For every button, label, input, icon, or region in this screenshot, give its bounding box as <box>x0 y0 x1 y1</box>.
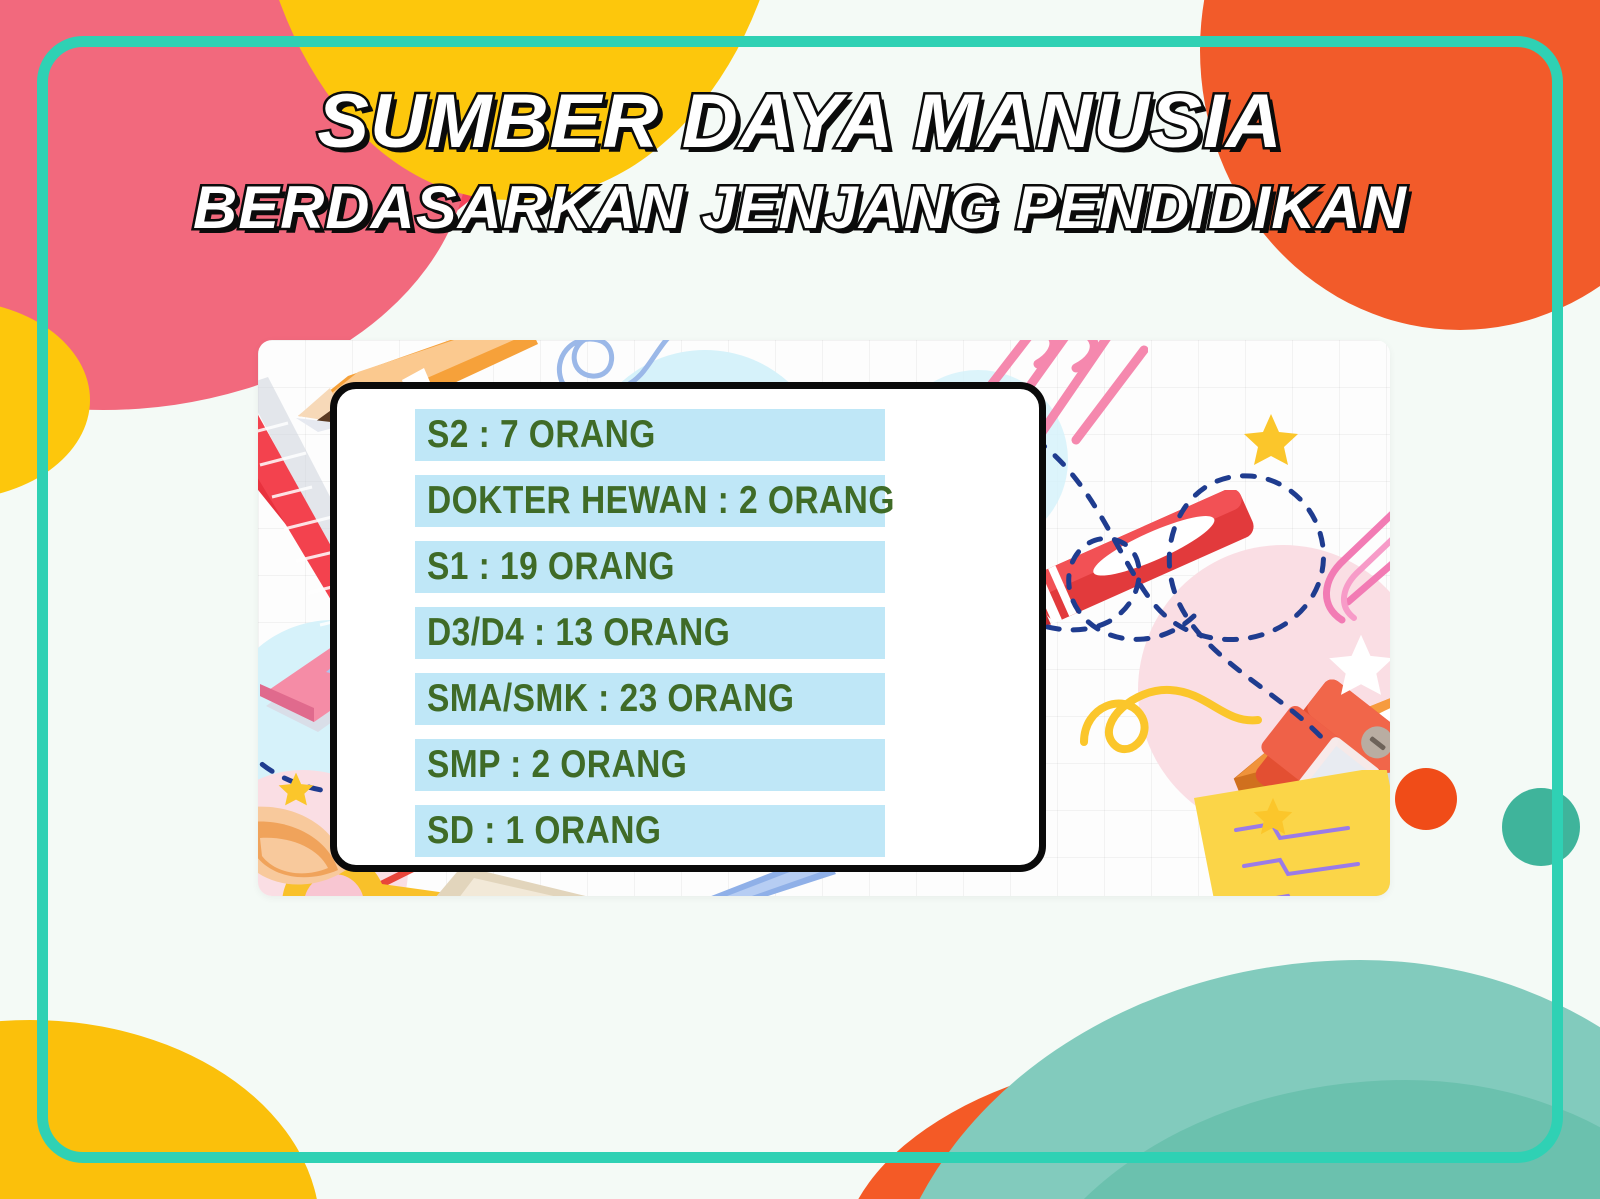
list-item-label: SMP : 2 ORANG <box>427 739 687 791</box>
star-yellow-left-icon <box>278 770 314 806</box>
list-item-label: DOKTER HEWAN : 2 ORANG <box>427 475 895 527</box>
list-item-pill: DOKTER HEWAN : 2 ORANG <box>415 475 885 527</box>
list-item: SD : 1 ORANG <box>415 801 975 860</box>
list-item: S1 : 19 ORANG <box>415 537 975 596</box>
list-item-label: S2 : 7 ORANG <box>427 409 656 461</box>
list-item: SMP : 2 ORANG <box>415 735 975 794</box>
stats-card: S2 : 7 ORANG DOKTER HEWAN : 2 ORANG S1 :… <box>330 382 1046 872</box>
page-title: SUMBER DAYA MANUSIA BERDASARKAN JENJANG … <box>0 84 1600 238</box>
list-item-pill: D3/D4 : 13 ORANG <box>415 607 885 659</box>
list-item-pill: SMA/SMK : 23 ORANG <box>415 673 885 725</box>
star-yellow-icon <box>1243 410 1299 466</box>
poster-canvas: SUMBER DAYA MANUSIA BERDASARKAN JENJANG … <box>0 0 1600 1199</box>
title-line-2: BERDASARKAN JENJANG PENDIDIKAN <box>0 178 1600 238</box>
list-item-pill: SMP : 2 ORANG <box>415 739 885 791</box>
education-level-list: S2 : 7 ORANG DOKTER HEWAN : 2 ORANG S1 :… <box>415 405 975 867</box>
star-white-icon <box>1328 630 1390 696</box>
blob-yellow-bottom-left <box>0 1020 320 1199</box>
list-item: DOKTER HEWAN : 2 ORANG <box>415 471 975 530</box>
list-item-label: SD : 1 ORANG <box>427 805 661 857</box>
list-item-pill: SD : 1 ORANG <box>415 805 885 857</box>
list-item: D3/D4 : 13 ORANG <box>415 603 975 662</box>
list-item-label: SMA/SMK : 23 ORANG <box>427 673 794 725</box>
dot-orange-icon <box>1395 768 1457 830</box>
list-item-label: D3/D4 : 13 ORANG <box>427 607 730 659</box>
dot-teal-icon <box>1502 788 1580 866</box>
list-item-pill: S2 : 7 ORANG <box>415 409 885 461</box>
star-yellow-small-icon <box>1253 795 1293 835</box>
title-line-1: SUMBER DAYA MANUSIA <box>0 84 1600 160</box>
list-item-label: S1 : 19 ORANG <box>427 541 675 593</box>
list-item: S2 : 7 ORANG <box>415 405 975 464</box>
list-item-pill: S1 : 19 ORANG <box>415 541 885 593</box>
list-item: SMA/SMK : 23 ORANG <box>415 669 975 728</box>
